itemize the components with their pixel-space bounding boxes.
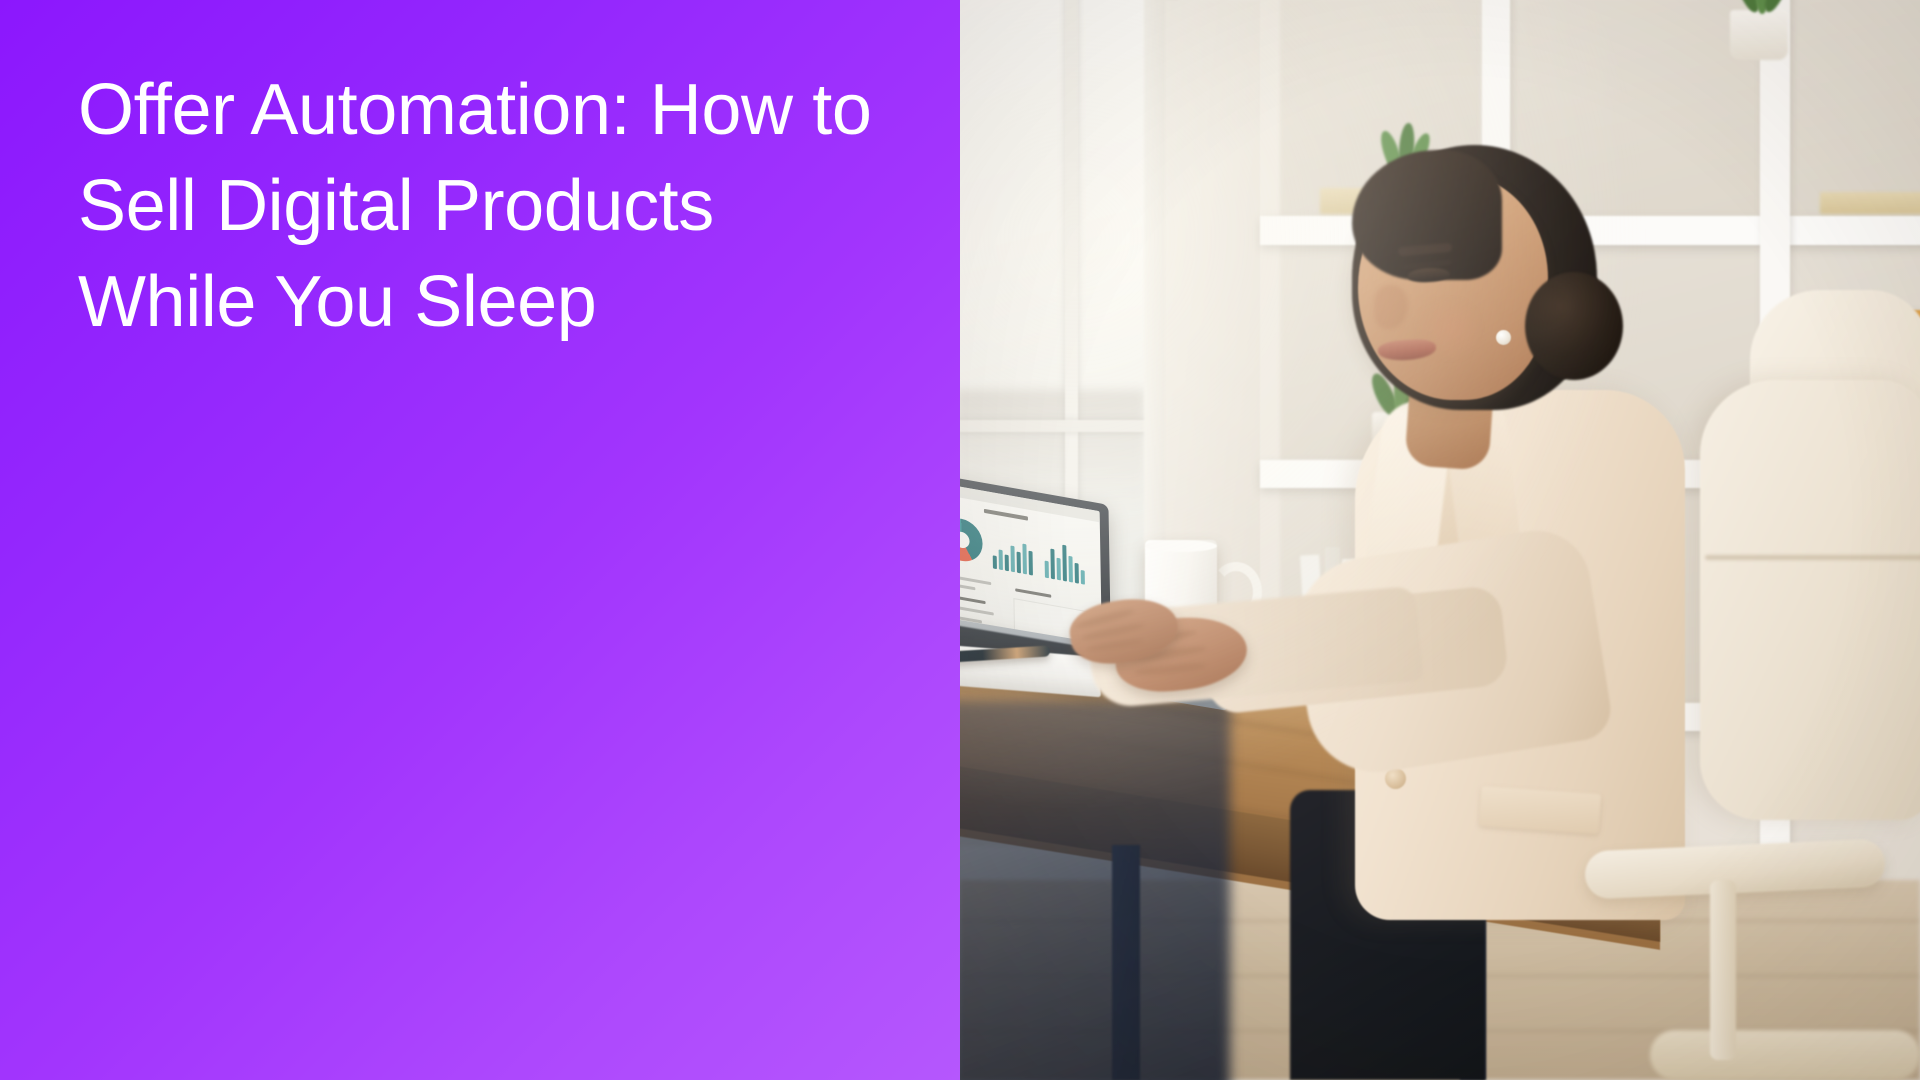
bar (1045, 561, 1049, 579)
bar (1029, 551, 1033, 576)
bar (999, 549, 1003, 570)
dashboard-text (1015, 588, 1051, 597)
hero-photo (960, 0, 1920, 1080)
chair-seam (1705, 555, 1920, 560)
bar (993, 555, 997, 569)
bar (1075, 563, 1079, 584)
bar (1017, 552, 1021, 574)
plant-pot (1730, 10, 1788, 60)
window-mullion-horizontal (960, 420, 1160, 432)
mug-rim (1145, 540, 1217, 552)
bar (1081, 570, 1085, 585)
hero-banner: Offer Automation: How to Sell Digital Pr… (0, 0, 1920, 1080)
dashboard-text (960, 573, 991, 585)
bar (1005, 554, 1009, 571)
book-stack (1820, 192, 1920, 214)
chair-backrest (1700, 380, 1920, 820)
dashboard-text (960, 603, 994, 615)
dashboard-title (984, 509, 1028, 521)
page-title: Offer Automation: How to Sell Digital Pr… (78, 62, 908, 350)
chair-base (1650, 1030, 1920, 1080)
bar-chart (992, 526, 1037, 576)
earring (1496, 330, 1511, 345)
finger (1134, 661, 1206, 676)
headline-panel: Offer Automation: How to Sell Digital Pr… (0, 0, 960, 1080)
desk-shadow (960, 700, 1230, 1080)
hair-bun (1525, 272, 1623, 380)
bar (1062, 545, 1067, 582)
bar (1068, 556, 1072, 583)
blazer-button (1385, 768, 1406, 789)
chair-arm-post (1710, 880, 1736, 1060)
finger (1086, 637, 1144, 653)
bar (1022, 544, 1027, 575)
donut-hole (960, 530, 970, 549)
bar (1050, 549, 1055, 580)
blazer-pocket (1479, 786, 1601, 834)
bar (1010, 546, 1014, 573)
donut-chart (960, 515, 983, 565)
dashboard-text (960, 581, 975, 590)
dashboard-text (960, 593, 986, 604)
bar-chart (1044, 531, 1089, 585)
shelf-cubby (1790, 0, 1920, 216)
bar (1057, 558, 1061, 581)
